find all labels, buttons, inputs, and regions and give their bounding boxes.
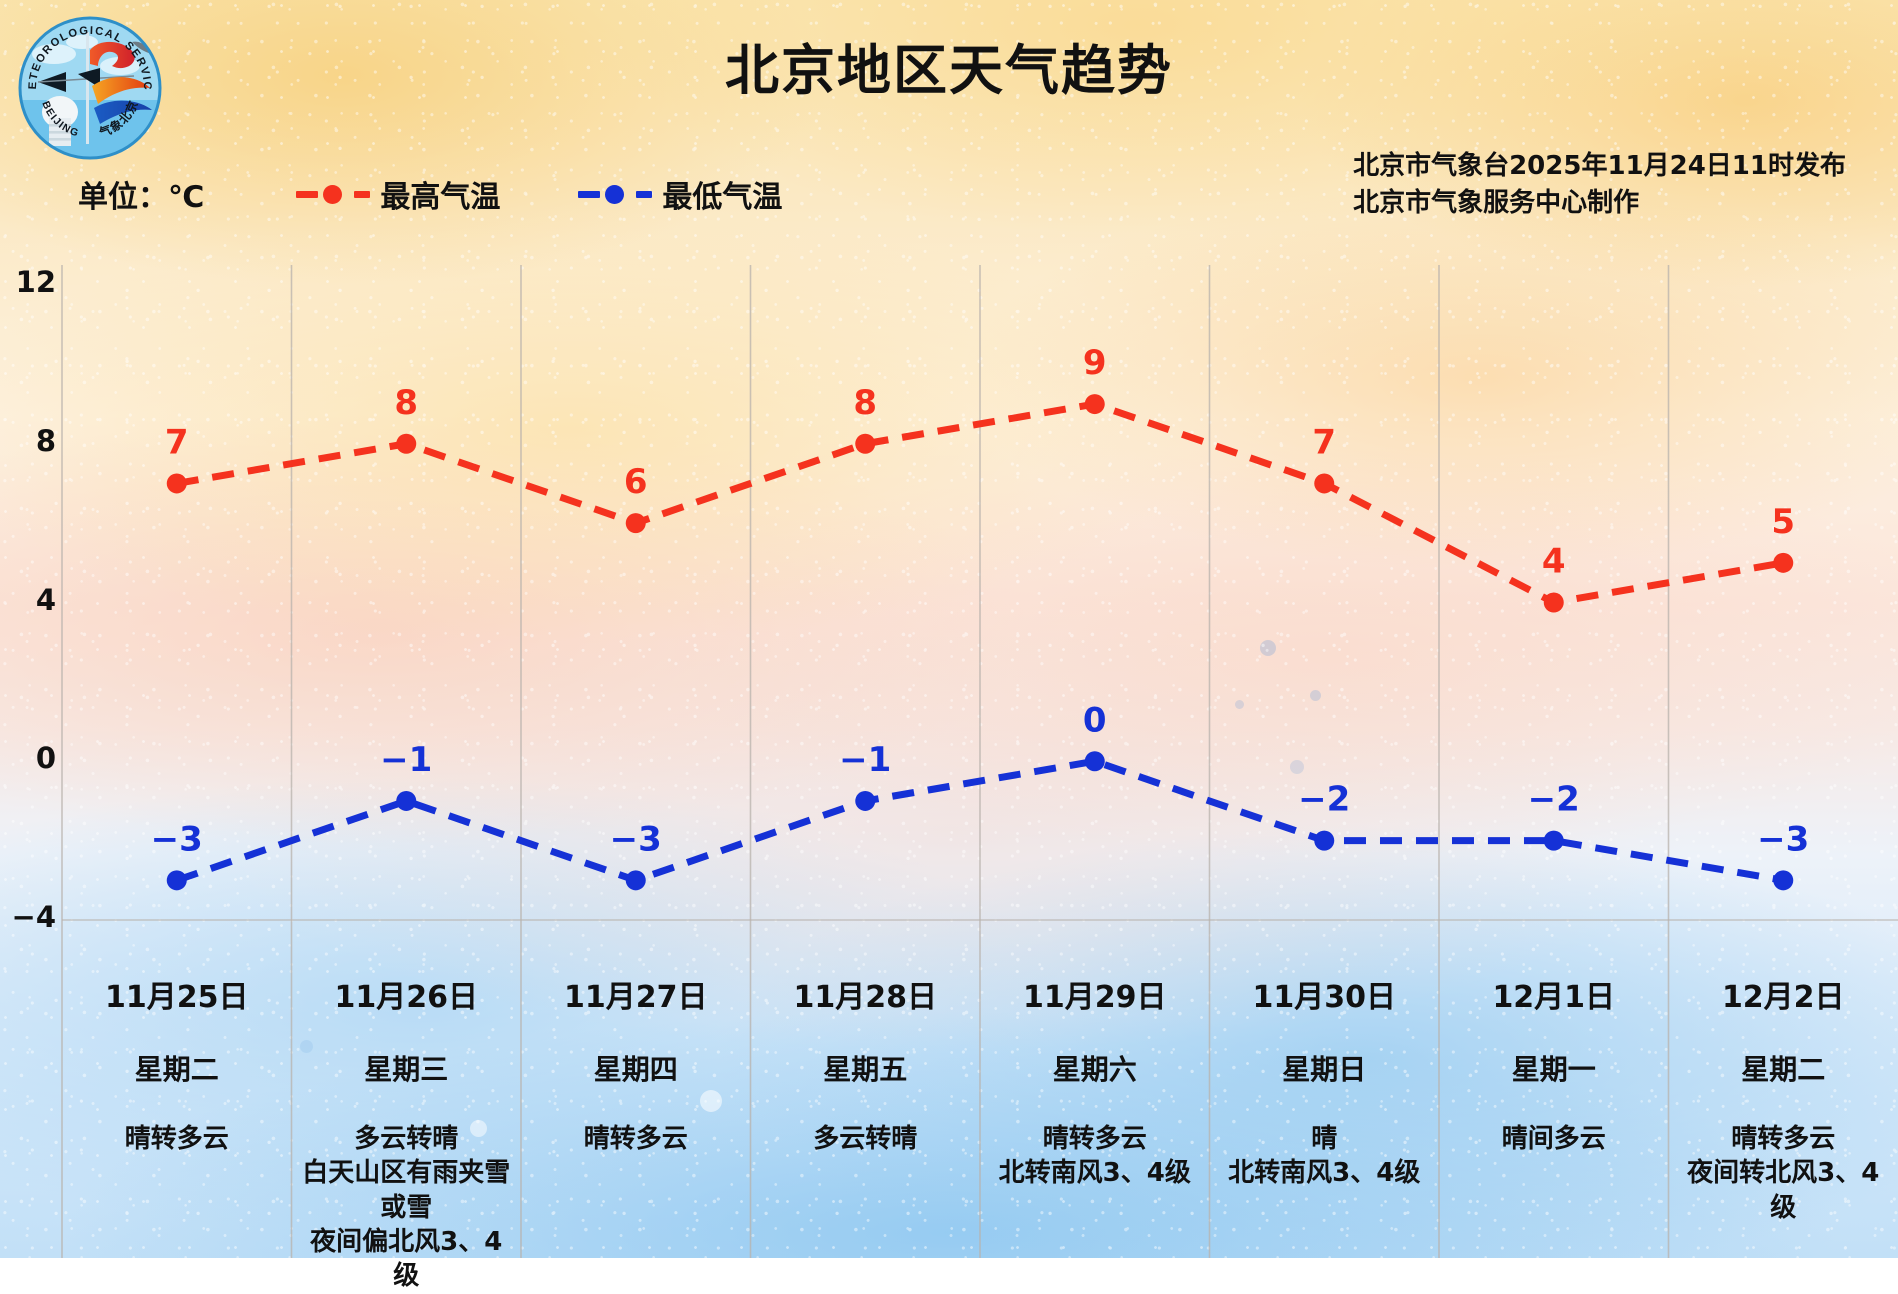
day-date-label: 11月27日: [527, 972, 745, 1016]
day-weekday-label: 星期六: [986, 1048, 1204, 1088]
day-date-label: 11月30日: [1216, 972, 1434, 1016]
day-column[interactable]: 11月25日星期二晴转多云: [62, 958, 292, 1258]
data-label-high-5: 7: [1312, 422, 1336, 462]
day-weekday-label: 星期一: [1445, 1048, 1663, 1088]
day-date-label: 11月28日: [757, 972, 975, 1016]
day-column[interactable]: 12月2日星期二晴转多云 夜间转北风3、4级: [1669, 958, 1898, 1258]
data-point-high-5: [1314, 473, 1334, 493]
day-date-label: 12月1日: [1445, 972, 1663, 1016]
day-date-label: 11月29日: [986, 972, 1204, 1016]
data-point-high-7: [1773, 553, 1793, 573]
data-point-high-3: [855, 434, 875, 454]
day-weekday-label: 星期四: [527, 1048, 745, 1088]
data-label-low-7: −3: [1757, 819, 1809, 859]
data-point-low-2: [626, 870, 646, 890]
data-point-low-7: [1773, 870, 1793, 890]
y-axis-tick-label: 8: [0, 424, 56, 458]
high-temp-line-swatch-icon: [296, 183, 370, 205]
legend-item-high-temp: 最高气温: [296, 172, 500, 216]
data-label-low-3: −1: [839, 740, 891, 780]
publisher-producer-line: 北京市气象服务中心制作: [1353, 185, 1846, 222]
low-temp-line-swatch-icon: [578, 183, 652, 205]
day-column[interactable]: 11月27日星期四晴转多云: [521, 958, 751, 1258]
day-weather-description: 晴转多云 夜间转北风3、4级: [1675, 1122, 1893, 1225]
day-weather-description: 晴转多云: [68, 1122, 286, 1156]
day-date-label: 12月2日: [1675, 972, 1893, 1016]
unit-label: 单位：℃: [78, 172, 204, 216]
data-label-high-4: 9: [1083, 343, 1107, 383]
data-point-high-0: [167, 473, 187, 493]
data-point-high-6: [1544, 593, 1564, 613]
day-weather-description: 晴间多云: [1445, 1122, 1663, 1156]
data-point-high-4: [1085, 394, 1105, 414]
day-weather-description: 晴转多云 北转南风3、4级: [986, 1122, 1204, 1191]
data-label-high-0: 7: [165, 422, 189, 462]
data-point-high-1: [396, 434, 416, 454]
day-date-label: 11月25日: [68, 972, 286, 1016]
y-axis-tick-label: 12: [0, 265, 56, 299]
data-label-low-0: −3: [151, 819, 203, 859]
data-point-low-6: [1544, 831, 1564, 851]
day-weekday-label: 星期二: [68, 1048, 286, 1088]
data-label-high-7: 5: [1771, 502, 1795, 542]
data-point-high-2: [626, 513, 646, 533]
y-axis-tick-label: −4: [0, 900, 56, 934]
day-weekday-label: 星期日: [1216, 1048, 1434, 1088]
data-label-low-2: −3: [610, 819, 662, 859]
data-label-low-1: −1: [380, 740, 432, 780]
data-point-low-5: [1314, 831, 1334, 851]
day-weekday-label: 星期二: [1675, 1048, 1893, 1088]
data-point-low-1: [396, 791, 416, 811]
day-weather-description: 多云转晴: [757, 1122, 975, 1156]
day-weather-description: 晴转多云: [527, 1122, 745, 1156]
data-label-high-6: 4: [1542, 542, 1566, 582]
publisher-info: 北京市气象台2025年11月24日11时发布 北京市气象服务中心制作: [1353, 148, 1846, 222]
legend-label-high-temp: 最高气温: [380, 172, 500, 216]
beijing-meteorological-service-logo: METEOROLOGICAL SERVICE BEIJING 气象北京: [16, 14, 164, 162]
publisher-issue-line: 北京市气象台2025年11月24日11时发布: [1353, 148, 1846, 185]
legend-label-low-temp: 最低气温: [662, 172, 782, 216]
day-weekday-label: 星期五: [757, 1048, 975, 1088]
day-weather-description: 晴 北转南风3、4级: [1216, 1122, 1434, 1191]
day-column[interactable]: 12月1日星期一晴间多云: [1439, 958, 1669, 1258]
data-label-high-2: 6: [624, 462, 648, 502]
day-column[interactable]: 11月30日星期日晴 北转南风3、4级: [1210, 958, 1440, 1258]
day-column[interactable]: 11月26日星期三多云转晴 白天山区有雨夹雪或雪 夜间偏北风3、4级: [292, 958, 522, 1258]
data-label-high-1: 8: [394, 383, 418, 423]
data-point-low-3: [855, 791, 875, 811]
data-label-low-5: −2: [1298, 780, 1350, 820]
data-point-low-0: [167, 870, 187, 890]
day-weekday-label: 星期三: [298, 1048, 516, 1088]
data-label-high-3: 8: [853, 383, 877, 423]
day-date-label: 11月26日: [298, 972, 516, 1016]
day-weather-description: 多云转晴 白天山区有雨夹雪或雪 夜间偏北风3、4级: [298, 1122, 516, 1294]
day-columns: 11月25日星期二晴转多云11月26日星期三多云转晴 白天山区有雨夹雪或雪 夜间…: [62, 958, 1898, 1258]
legend-item-low-temp: 最低气温: [578, 172, 782, 216]
y-axis-tick-label: 4: [0, 583, 56, 617]
y-axis-tick-label: 0: [0, 741, 56, 775]
day-column[interactable]: 11月29日星期六晴转多云 北转南风3、4级: [980, 958, 1210, 1258]
data-label-low-4: 0: [1083, 700, 1107, 740]
day-column[interactable]: 11月28日星期五多云转晴: [751, 958, 981, 1258]
chart-legend: 单位：℃ 最高气温 最低气温: [78, 172, 860, 216]
data-point-low-4: [1085, 751, 1105, 771]
page-title: 北京地区天气趋势: [0, 26, 1898, 105]
data-label-low-6: −2: [1528, 780, 1580, 820]
